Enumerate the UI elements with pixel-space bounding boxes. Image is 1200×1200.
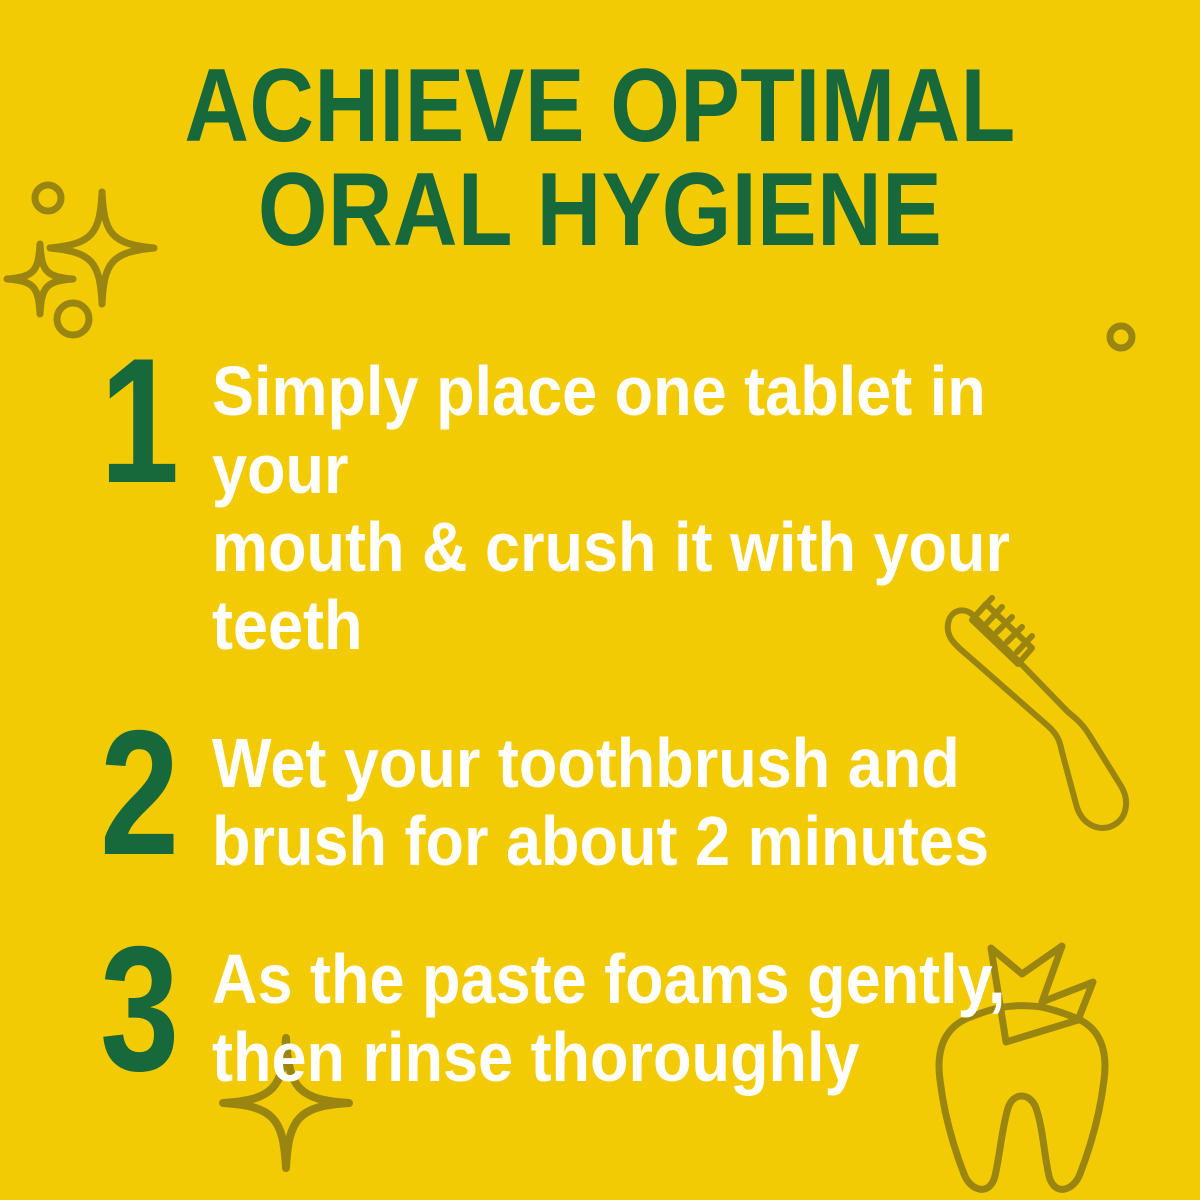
step-text-1: Simply place one tablet in your mouth & …	[212, 352, 1101, 664]
poster-canvas: ACHIEVE OPTIMAL ORAL HYGIENE 1 Simply pl…	[0, 0, 1200, 1200]
title-line-2: ORAL HYGIENE	[84, 158, 1116, 262]
step-item-2: 2 Wet your toothbrush and brush for abou…	[0, 724, 1200, 880]
step-number-2: 2	[100, 718, 190, 868]
step-text-3: As the paste foams gently, then rinse th…	[212, 940, 1006, 1096]
steps-list: 1 Simply place one tablet in your mouth …	[0, 352, 1200, 1156]
step-item-1: 1 Simply place one tablet in your mouth …	[0, 352, 1200, 664]
circle-outline-icon	[1104, 320, 1138, 354]
page-title: ACHIEVE OPTIMAL ORAL HYGIENE	[0, 54, 1200, 262]
step-text-2: Wet your toothbrush and brush for about …	[212, 724, 989, 880]
step-number-3: 3	[100, 934, 190, 1084]
step-number-1: 1	[100, 346, 190, 496]
title-line-1: ACHIEVE OPTIMAL	[84, 54, 1116, 158]
step-item-3: 3 As the paste foams gently, then rinse …	[0, 940, 1200, 1096]
